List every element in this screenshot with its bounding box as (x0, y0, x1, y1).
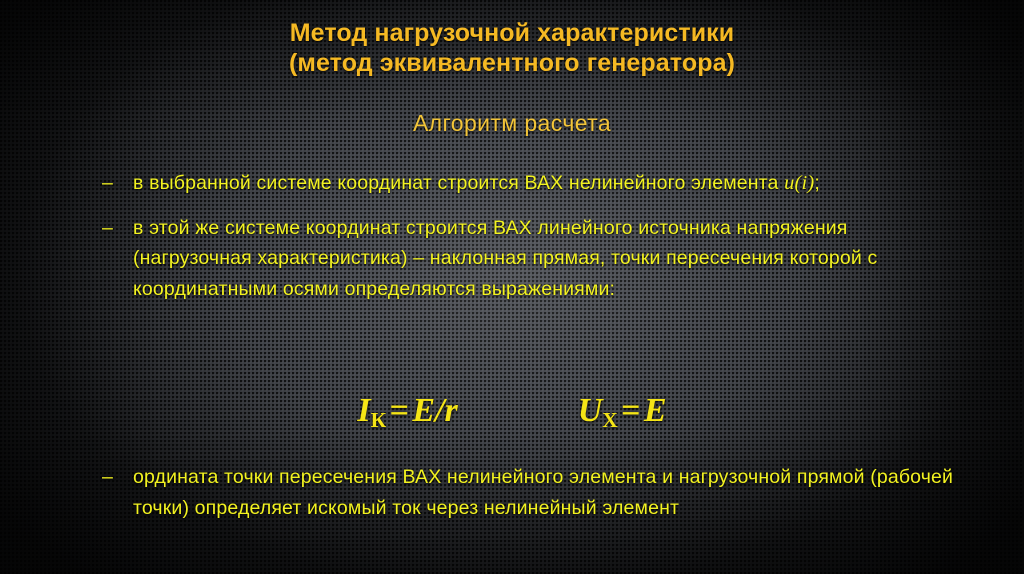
bullet-item: – в этой же системе координат строится В… (100, 213, 960, 305)
formula-rhs-expression: E/r (412, 392, 457, 429)
formula-row: IК=E/r UХ=E (0, 392, 1024, 433)
bullet-text-tail: ; (814, 172, 820, 194)
bullet-list-upper: – в выбранной системе координат строится… (100, 168, 960, 304)
formula-operator: = (618, 392, 644, 429)
bullet-dash-icon: – (102, 168, 113, 199)
bullet-list-lower: – ордината точки пересечения ВАХ нелиней… (100, 462, 980, 523)
bullet-inline-formula: u(i) (784, 172, 814, 194)
slide-content: Метод нагрузочной характеристики (метод … (0, 0, 1024, 574)
bullet-text: ордината точки пересечения ВАХ нелинейно… (133, 466, 953, 519)
formula-short-circuit-current: IК=E/r (357, 392, 457, 433)
bullet-dash-icon: – (102, 213, 113, 244)
formula-lhs-symbol: U (578, 392, 603, 429)
bullet-item: – в выбранной системе координат строится… (100, 168, 960, 199)
slide-title: Метод нагрузочной характеристики (метод … (0, 18, 1024, 78)
formula-lhs-subscript: К (371, 408, 387, 432)
bullet-dash-icon: – (102, 462, 113, 493)
formula-open-circuit-voltage: UХ=E (578, 392, 667, 433)
formula-rhs-expression: E (644, 392, 667, 429)
slide-subtitle: Алгоритм расчета (0, 110, 1024, 137)
bullet-text: в выбранной системе координат строится В… (133, 172, 784, 194)
formula-lhs-subscript: Х (602, 408, 617, 432)
slide-title-line-2: (метод эквивалентного генератора) (0, 48, 1024, 78)
formula-lhs-symbol: I (357, 392, 370, 429)
formula-operator: = (386, 392, 412, 429)
bullet-item: – ордината точки пересечения ВАХ нелиней… (100, 462, 980, 523)
slide-title-line-1: Метод нагрузочной характеристики (0, 18, 1024, 48)
bullet-text: в этой же системе координат строится ВАХ… (133, 217, 877, 300)
slide-canvas: Метод нагрузочной характеристики (метод … (0, 0, 1024, 574)
